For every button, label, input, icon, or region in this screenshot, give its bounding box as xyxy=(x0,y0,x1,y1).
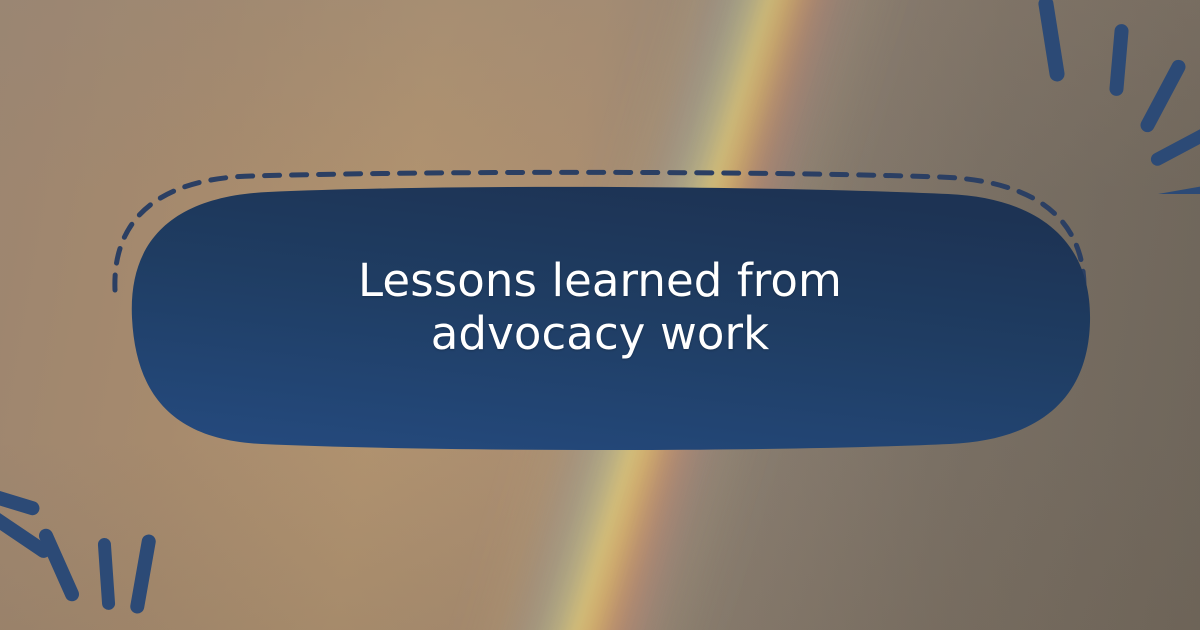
page-title: Lessons learned from advocacy work xyxy=(120,255,1080,360)
burst-bottom-left-icon xyxy=(0,442,202,630)
slide-canvas: Lessons learned from advocacy work xyxy=(0,0,1200,630)
burst-bottom-left xyxy=(0,442,202,630)
burst-top-right-icon xyxy=(994,0,1200,194)
burst-top-right xyxy=(994,0,1200,198)
